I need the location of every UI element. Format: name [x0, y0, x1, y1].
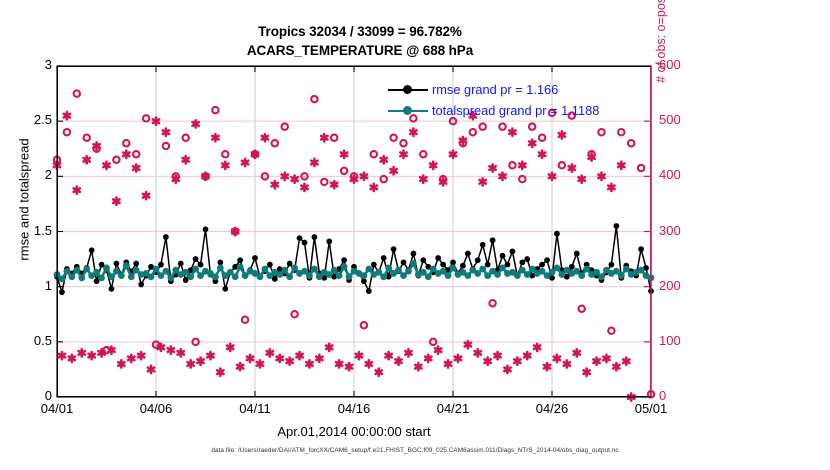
- y-axis-label-right: # of obs: o=possible; ×=assimilated: [654, 0, 668, 110]
- x-tick-2: 04/11: [220, 401, 290, 416]
- legend-item-totalspread[interactable]: totalspread grand pr = 1.1188: [388, 100, 650, 121]
- y-tick-left-5: 2.5: [6, 112, 52, 127]
- legend-item-rmse[interactable]: rmse grand pr = 1.166: [388, 79, 650, 100]
- x-tick-1: 04/06: [121, 401, 191, 416]
- data-file-footer: data file: /Users/raeder/DAI/ATM_forcXX/…: [0, 447, 830, 454]
- legend-swatch-totalspread: [388, 104, 428, 118]
- legend-label-totalspread: totalspread grand pr = 1.1188: [432, 103, 599, 118]
- figure-root: Tropics 32034 / 33099 = 96.782% ACARS_TE…: [0, 0, 830, 470]
- x-tick-5: 04/26: [517, 401, 587, 416]
- x-tick-4: 04/21: [418, 401, 488, 416]
- y-tick-right-4: 400: [659, 167, 705, 182]
- y-tick-right-6: 600: [659, 57, 705, 72]
- legend-swatch-rmse: [388, 83, 428, 97]
- x-axis-label: Apr.01,2014 00:00:00 start: [57, 424, 651, 439]
- title-line-1: Tropics 32034 / 33099 = 96.782%: [0, 22, 720, 41]
- y-tick-left-6: 3: [6, 57, 52, 72]
- legend-label-rmse: rmse grand pr = 1.166: [432, 82, 558, 97]
- y-tick-right-5: 500: [659, 112, 705, 127]
- right-axis-line: [650, 66, 651, 397]
- y-tick-left-4: 2: [6, 167, 52, 182]
- y-tick-left-2: 1: [6, 278, 52, 293]
- y-tick-right-3: 300: [659, 223, 705, 238]
- y-tick-left-3: 1.5: [6, 223, 52, 238]
- x-tick-6: 05/01: [616, 401, 686, 416]
- y-tick-left-1: 0.5: [6, 333, 52, 348]
- x-tick-0: 04/01: [22, 401, 92, 416]
- title-line-2: ACARS_TEMPERATURE @ 688 hPa: [0, 41, 720, 60]
- chart-legend: rmse grand pr = 1.166 totalspread grand …: [388, 79, 650, 121]
- x-tick-3: 04/16: [319, 401, 389, 416]
- y-tick-right-1: 100: [659, 333, 705, 348]
- y-tick-right-2: 200: [659, 278, 705, 293]
- chart-title: Tropics 32034 / 33099 = 96.782% ACARS_TE…: [0, 22, 720, 60]
